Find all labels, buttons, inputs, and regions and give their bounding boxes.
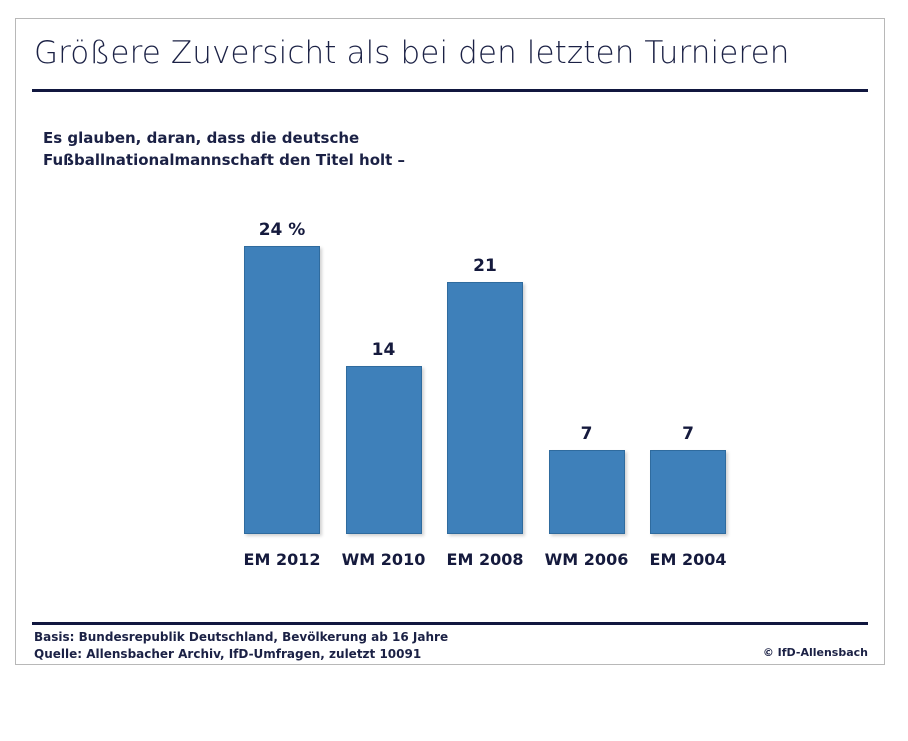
footer-source-line: Quelle: Allensbacher Archiv, IfD-Umfrage… — [34, 646, 734, 663]
bar-group: 14WM 2010 — [346, 19, 422, 624]
footer-basis-line: Basis: Bundesrepublik Deutschland, Bevöl… — [34, 629, 734, 646]
bar-group: 7WM 2006 — [549, 19, 625, 624]
bar-group: 21EM 2008 — [447, 19, 523, 624]
bar-category-label: WM 2010 — [334, 550, 434, 569]
bar-rect[interactable] — [346, 366, 422, 534]
bar-rect[interactable] — [447, 282, 523, 534]
bar-category-label: EM 2008 — [435, 550, 535, 569]
bar-chart-plot: 24 %EM 201214WM 201021EM 20087WM 20067EM… — [16, 19, 884, 624]
footer-block: Basis: Bundesrepublik Deutschland, Bevöl… — [34, 629, 734, 663]
bar-value-label: 24 % — [244, 220, 320, 240]
bar-rect[interactable] — [549, 450, 625, 534]
footer-divider — [32, 622, 868, 625]
chart-frame: Größere Zuversicht als bei den letzten T… — [15, 18, 885, 665]
bar-rect[interactable] — [244, 246, 320, 534]
bar-category-label: WM 2006 — [537, 550, 637, 569]
bar-rect[interactable] — [650, 450, 726, 534]
bar-group: 24 %EM 2012 — [244, 19, 320, 624]
bar-value-label: 14 — [346, 340, 422, 360]
bar-value-label: 21 — [447, 256, 523, 276]
bar-category-label: EM 2004 — [638, 550, 738, 569]
copyright-label: © IfD-Allensbach — [763, 646, 868, 659]
bar-value-label: 7 — [549, 424, 625, 444]
bar-group: 7EM 2004 — [650, 19, 726, 624]
bar-value-label: 7 — [650, 424, 726, 444]
bar-category-label: EM 2012 — [232, 550, 332, 569]
